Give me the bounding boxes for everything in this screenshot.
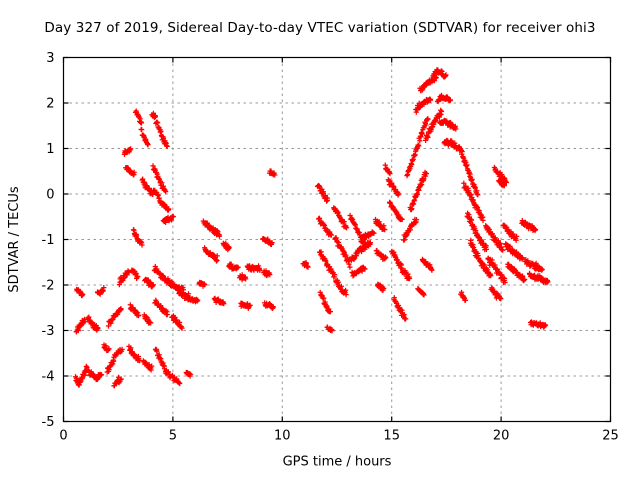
y-tick-label: 0: [46, 188, 54, 203]
data-point: [347, 265, 352, 270]
plot-canvas: -5-4-3-2-101230510152025 GPS time / hour…: [0, 0, 640, 480]
x-tick-label: 15: [383, 429, 400, 444]
y-tick-label: -2: [42, 279, 55, 294]
data-points: [73, 67, 551, 388]
y-tick-label: -1: [42, 233, 55, 248]
y-tick-label: -5: [42, 415, 55, 430]
x-tick-label: 5: [169, 429, 177, 444]
y-tick-label: 3: [46, 51, 54, 66]
x-tick-label: 10: [274, 429, 291, 444]
data-point: [139, 127, 144, 132]
y-tick-label: 1: [46, 142, 54, 157]
y-tick-label: -4: [42, 370, 55, 385]
y-tick-label: 2: [46, 97, 54, 112]
scatter-plot-svg: -5-4-3-2-101230510152025 GPS time / hour…: [0, 0, 640, 480]
axis-tick-labels: -5-4-3-2-101230510152025: [42, 51, 619, 444]
y-tick-label: -3: [42, 324, 55, 339]
x-tick-label: 25: [602, 429, 619, 444]
x-axis-label: GPS time / hours: [283, 455, 392, 470]
chart-page: Day 327 of 2019, Sidereal Day-to-day VTE…: [0, 0, 640, 480]
x-tick-label: 20: [493, 429, 510, 444]
y-axis-label: SDTVAR / TECUs: [7, 186, 22, 293]
x-tick-label: 0: [59, 429, 67, 444]
